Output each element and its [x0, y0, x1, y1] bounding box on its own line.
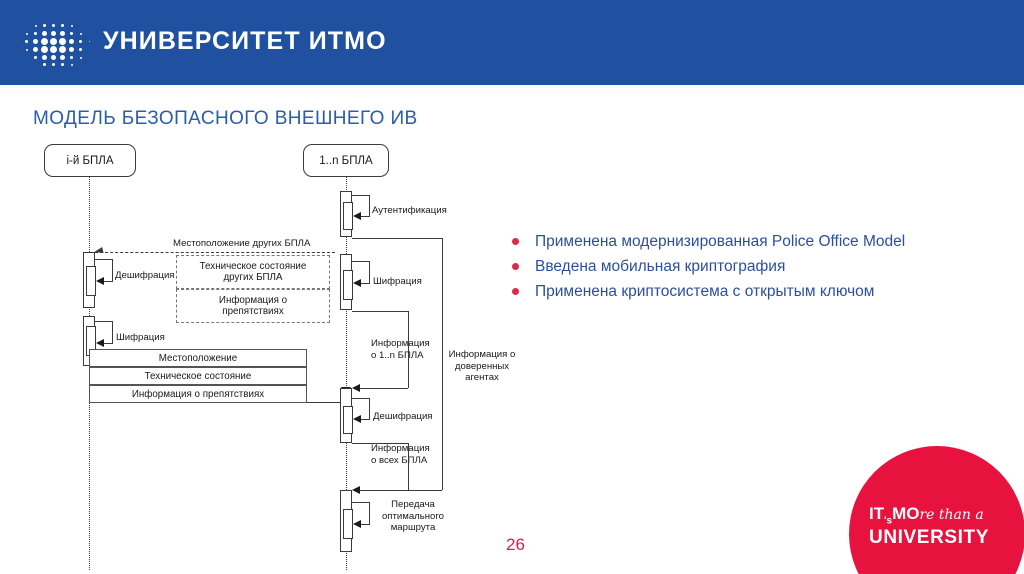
logo-dot [43, 63, 46, 66]
bullet-dot-icon [512, 288, 519, 295]
self-call-v-route [369, 502, 370, 524]
route-line1: Передача [374, 499, 452, 511]
itmo-dot-logo-icon [14, 22, 98, 66]
dashed-box-3-line1: Информация о [219, 295, 287, 306]
logo-dot [52, 63, 55, 66]
logo-dot [34, 32, 37, 35]
self-call-bottom-auth [360, 216, 370, 217]
logo-dot [79, 40, 82, 43]
logo-dot [42, 31, 47, 36]
logo-dot [69, 39, 74, 44]
route-line2: оптимального [374, 511, 452, 523]
info-all-line1: Информация [371, 443, 441, 455]
trusted-agents-line1: Информация о [446, 349, 518, 361]
logo-dot [51, 31, 56, 36]
logo-dot [60, 55, 65, 60]
bullet-dot-icon [512, 263, 519, 270]
arrow-info-1n [352, 384, 360, 392]
self-call-top-auth [352, 195, 370, 196]
bullet-item: Применена модернизированная Police Offic… [512, 231, 992, 252]
activation-bar-decrypt-right-inner [343, 406, 353, 434]
info-1n-top-line [352, 311, 408, 312]
lifeline-label-1n-bpla: 1..n БПЛА [319, 155, 372, 167]
logo-dot [71, 25, 73, 27]
itmo-badge-text: IT'sMOre than a UNIVERSITY [869, 505, 1019, 548]
dashed-box-2: Техническое состояние других БПЛА [176, 255, 330, 289]
logo-dot [51, 55, 56, 60]
arrow-dashed-return [93, 247, 103, 255]
self-call-bottom-decrypt-right [360, 419, 370, 420]
university-name-label: УНИВЕРСИТЕТ ИТМО [103, 27, 387, 56]
route-line3: маршрута [374, 522, 452, 534]
logo-dot [33, 39, 38, 44]
message-label-decryption-right: Дешифрация [373, 411, 433, 423]
logo-dot [33, 47, 38, 52]
logo-dot [70, 56, 73, 59]
self-call-v-encrypt-right [369, 261, 370, 283]
info-all-v-line [408, 443, 409, 490]
logo-dot [79, 48, 82, 51]
self-call-bottom-encrypt-right [360, 283, 370, 284]
dashed-box-2-line1: Техническое состояние [200, 261, 307, 272]
info-1n-line2: о 1..n БПЛА [371, 350, 437, 362]
badge-line1-part1: IT [869, 504, 884, 523]
trusted-agents-top-line [352, 238, 442, 239]
page-number: 26 [506, 535, 525, 555]
logo-dot [71, 64, 73, 66]
self-call-v-decrypt-left [112, 259, 113, 281]
bullet-text: Применена модернизированная Police Offic… [535, 231, 905, 252]
badge-line1: IT'sMOre than a [869, 505, 1019, 527]
self-call-top-decrypt-left [95, 259, 113, 260]
solid-box-2: Техническое состояние [89, 367, 307, 385]
logo-dot [59, 38, 66, 45]
logo-dot [59, 46, 66, 53]
self-call-v-auth [369, 195, 370, 216]
logo-dot [70, 32, 73, 35]
info-all-line2: о всех БПЛА [371, 455, 441, 467]
solid-box-1: Местоположение [89, 349, 307, 367]
message-label-authentication: Аутентификация [372, 205, 447, 217]
logo-dot [42, 55, 47, 60]
info-1n-bottom-line [358, 388, 408, 389]
solid-box-3-label: Информация о препятствиях [132, 389, 264, 400]
logo-dot [50, 38, 57, 45]
self-call-bottom-encrypt-left [103, 343, 113, 344]
arrow-decrypt-left [96, 277, 104, 285]
bullet-text: Применена криптосистема с открытым ключо… [535, 281, 874, 302]
logo-dot [34, 56, 37, 59]
logo-dot [61, 63, 64, 66]
logo-dot [25, 40, 28, 43]
message-label-info-1n: Информация о 1..n БПЛА [371, 338, 437, 361]
bullet-dot-icon [512, 238, 519, 245]
self-call-bottom-route [360, 524, 370, 525]
self-call-v-encrypt-left [112, 321, 113, 343]
trusted-agents-bottom-line [358, 490, 442, 491]
message-label-trusted-agents: Информация о доверенных агентах [446, 349, 518, 384]
message-label-info-all: Информация о всех БПЛА [371, 443, 441, 466]
logo-dot [80, 33, 82, 35]
self-call-top-encrypt-right [352, 261, 370, 262]
lifeline-box-1n-bpla: 1..n БПЛА [303, 144, 389, 177]
logo-dot [61, 24, 64, 27]
arrow-encrypt-left [96, 339, 104, 347]
bullet-text: Введена мобильная криптография [535, 256, 785, 277]
trusted-agents-v-line [442, 238, 443, 490]
dashed-box-3-line2: препятствиях [222, 306, 283, 317]
self-call-v-decrypt-right [369, 398, 370, 419]
arrow-route [353, 520, 361, 528]
logo-dot [43, 24, 46, 27]
bullet-item: Введена мобильная криптография [512, 256, 992, 277]
message-label-decryption-left: Дешифрация [115, 270, 175, 282]
logo-dot [60, 31, 65, 36]
logo-dot [41, 38, 48, 45]
activation-bar-route-inner [343, 509, 353, 539]
solid-box-2-label: Техническое состояние [145, 371, 252, 382]
self-call-bottom-decrypt-left [103, 281, 113, 282]
info-1n-line1: Информация [371, 338, 437, 350]
badge-line1-part2: MO [892, 504, 919, 523]
logo-dot [26, 49, 28, 51]
sequence-diagram: i-й БПЛА 1..n БПЛА Аутентификация Информ… [0, 130, 520, 570]
page-title: МОДЕЛЬ БЕЗОПАСНОГО ВНЕШНЕГО ИВ [33, 108, 418, 130]
dashed-box-label-1: Местоположение других БПЛА [173, 238, 310, 250]
logo-dot [69, 47, 74, 52]
trusted-agents-line3: агентах [446, 372, 518, 384]
self-call-top-encrypt-left [95, 321, 113, 322]
slide-canvas: УНИВЕРСИТЕТ ИТМО МОДЕЛЬ БЕЗОПАСНОГО ВНЕШ… [0, 0, 1024, 574]
logo-dot [89, 41, 90, 42]
dashed-box-2-line2: других БПЛА [223, 272, 282, 283]
arrow-encrypt-right [353, 279, 361, 287]
lifeline-box-i-bpla: i-й БПЛА [44, 144, 136, 177]
badge-line1-script: re than a [919, 507, 983, 523]
solid-box-1-label: Местоположение [159, 353, 237, 364]
logo-dot [50, 46, 57, 53]
logo-dot [52, 24, 55, 27]
logo-dot [26, 33, 28, 35]
logo-dot [17, 41, 18, 42]
logo-dot [41, 46, 48, 53]
activation-bar-auth-inner [343, 202, 353, 230]
trusted-agents-line2: доверенных [446, 361, 518, 373]
self-call-top-decrypt-right [352, 398, 370, 399]
activation-bar-encrypt-right-inner [343, 270, 353, 300]
lifeline-label-i-bpla: i-й БПЛА [66, 155, 113, 167]
badge-line1-sub: 's [884, 515, 892, 526]
logo-dot [35, 25, 37, 27]
bullet-item: Применена криптосистема с открытым ключо… [512, 281, 992, 302]
message-label-route: Передача оптимального маршрута [374, 499, 452, 534]
arrow-auth [353, 212, 361, 220]
solid-box-3: Информация о препятствиях [89, 385, 307, 403]
message-label-encryption-left: Шифрация [116, 332, 165, 344]
logo-dot [80, 57, 82, 59]
message-label-encryption-right: Шифрация [373, 276, 422, 288]
arrow-decrypt-right [353, 415, 361, 423]
dashed-box-3: Информация о препятствиях [176, 289, 330, 323]
activation-bar-decrypt-left-inner [86, 266, 96, 296]
info-all-top-line [352, 443, 408, 444]
bullet-list: Применена модернизированная Police Offic… [512, 231, 992, 306]
badge-line2: UNIVERSITY [869, 528, 1019, 548]
self-call-top-route [352, 502, 370, 503]
arrow-trusted-agents [352, 486, 360, 494]
dashed-return-line [95, 252, 335, 253]
